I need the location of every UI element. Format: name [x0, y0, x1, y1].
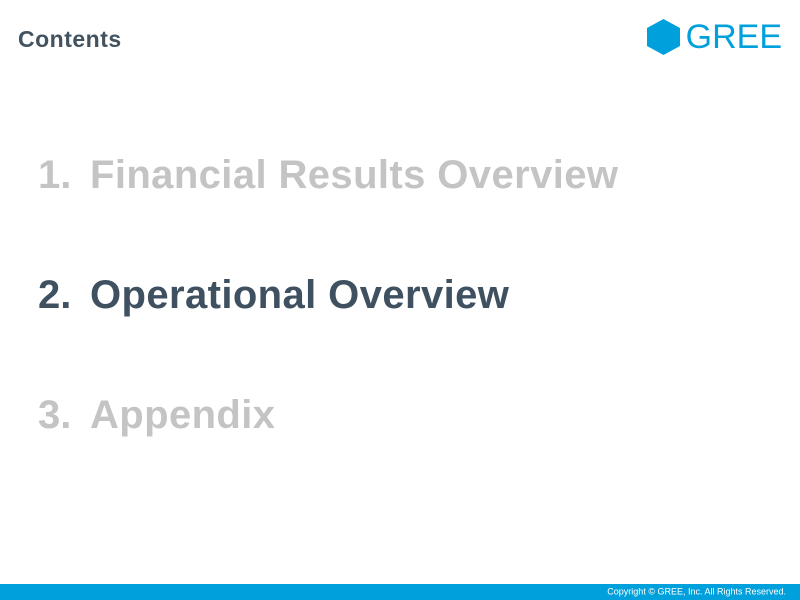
- contents-item-label: Appendix: [90, 390, 275, 440]
- footer-bar: Copyright © GREE, Inc. All Rights Reserv…: [0, 584, 800, 600]
- contents-item-number: 1.: [38, 150, 90, 200]
- contents-item-number: 3.: [38, 390, 90, 440]
- copyright-text: Copyright © GREE, Inc. All Rights Reserv…: [607, 588, 786, 597]
- contents-item-financial-results-overview[interactable]: 1. Financial Results Overview: [38, 150, 778, 270]
- contents-item-appendix[interactable]: 3. Appendix: [38, 390, 778, 510]
- hexagon-icon: [647, 19, 680, 55]
- contents-list: 1. Financial Results Overview 2. Operati…: [38, 150, 778, 510]
- gree-logo: GREE: [647, 18, 782, 56]
- slide-header: Contents GREE: [0, 0, 800, 72]
- logo-wordmark: GREE: [686, 20, 782, 54]
- page-title: Contents: [18, 28, 122, 51]
- contents-item-number: 2.: [38, 270, 90, 320]
- slide-contents: Contents GREE 1. Financial Results Overv…: [0, 0, 800, 600]
- contents-item-operational-overview[interactable]: 2. Operational Overview: [38, 270, 778, 390]
- contents-item-label: Operational Overview: [90, 270, 509, 320]
- contents-item-label: Financial Results Overview: [90, 150, 618, 200]
